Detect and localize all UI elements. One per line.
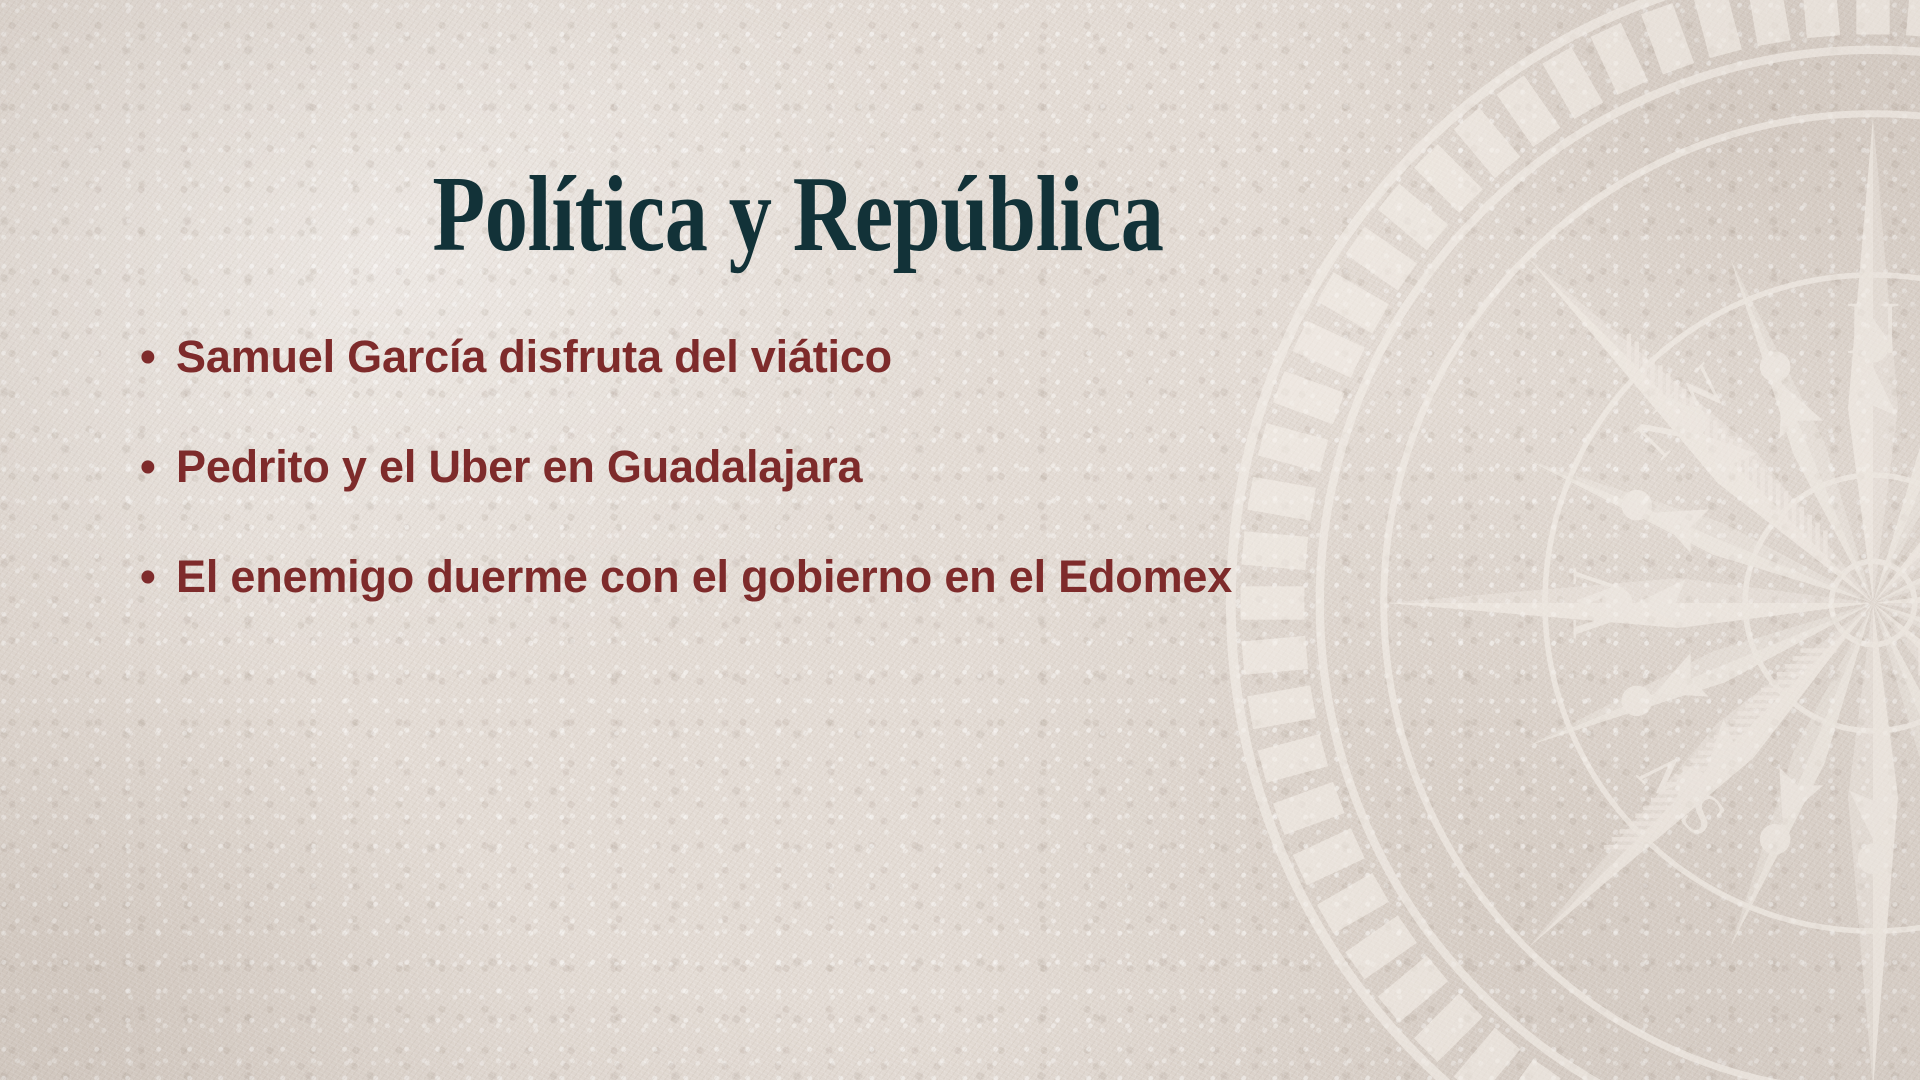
bullet-marker-icon: • (140, 440, 176, 493)
bullet-list: • Samuel García disfruta del viático • P… (140, 330, 1840, 603)
bullet-text: Pedrito y el Uber en Guadalajara (176, 440, 1840, 493)
compass-label-southwest: SW (1625, 737, 1738, 850)
bullet-text: Samuel García disfruta del viático (176, 330, 1840, 383)
list-item: • Pedrito y el Uber en Guadalajara (140, 440, 1840, 493)
slide-canvas: N NW W SW Política y República • Samuel … (0, 0, 1920, 1080)
bullet-text: El enemigo duerme con el gobierno en el … (176, 550, 1840, 603)
list-item: • El enemigo duerme con el gobierno en e… (140, 550, 1840, 603)
bullet-marker-icon: • (140, 330, 176, 383)
compass-label-north: N (1846, 287, 1900, 370)
bullet-marker-icon: • (140, 550, 176, 603)
list-item: • Samuel García disfruta del viático (140, 330, 1840, 383)
slide-title: Política y República (158, 158, 1438, 271)
